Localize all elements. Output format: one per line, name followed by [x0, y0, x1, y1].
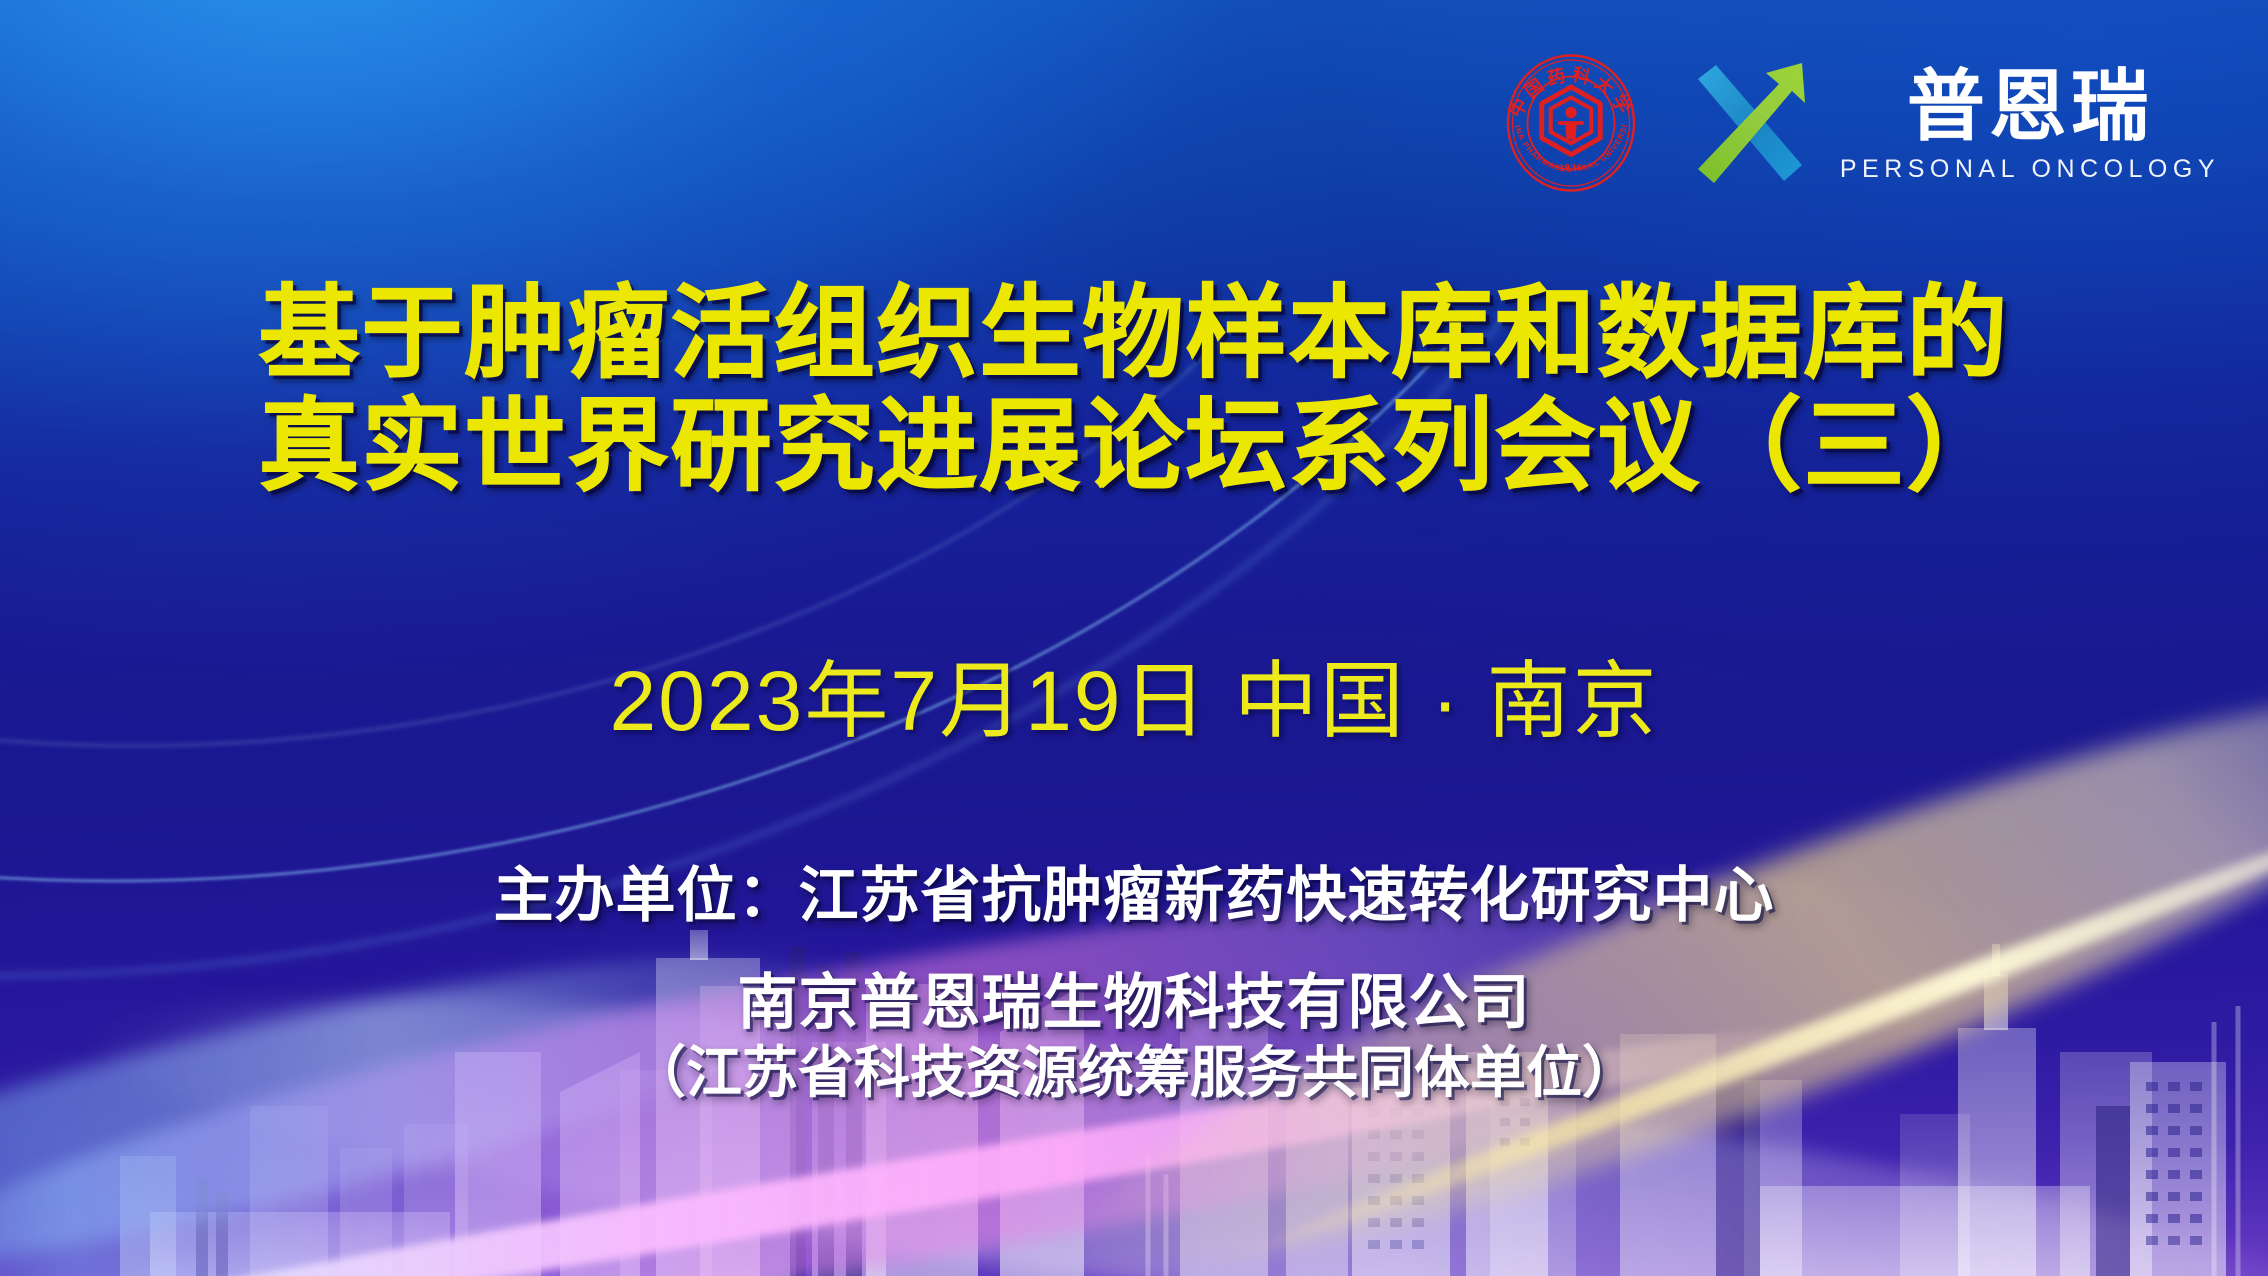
- penrui-wordmark: 普恩瑞 PERSONAL ONCOLOGY: [1840, 62, 2220, 183]
- penrui-chinese-name: 普恩瑞: [1907, 68, 2153, 144]
- logo-bar: 中国药科大学 CHINA PHARMACEUTICAL UNIVERSITY 1…: [1496, 48, 2220, 198]
- x-arrow-growth-mark-icon: [1684, 57, 1816, 189]
- china-pharmaceutical-university-seal-icon: 中国药科大学 CHINA PHARMACEUTICAL UNIVERSITY 1…: [1496, 48, 1646, 198]
- organizer-company-note: （江苏省科技资源统筹服务共同体单位）: [0, 1042, 2268, 1104]
- organizer-host-line: 主办单位：江苏省抗肿瘤新药快速转化研究中心: [0, 862, 2268, 929]
- conference-banner: 中国药科大学 CHINA PHARMACEUTICAL UNIVERSITY 1…: [0, 0, 2268, 1276]
- conference-date-location: 2023年7月19日 中国 · 南京: [0, 655, 2268, 747]
- svg-text:1936: 1936: [1559, 162, 1583, 173]
- organizer-block: 主办单位：江苏省抗肿瘤新药快速转化研究中心 南京普恩瑞生物科技有限公司 （江苏省…: [0, 862, 2268, 1104]
- conference-title: 基于肿瘤活组织生物样本库和数据库的 真实世界研究进展论坛系列会议（三）: [0, 278, 2268, 504]
- penrui-company-logo: 普恩瑞 PERSONAL ONCOLOGY: [1684, 57, 2220, 189]
- penrui-english-tagline: PERSONAL ONCOLOGY: [1840, 155, 2220, 184]
- conference-title-line-1: 基于肿瘤活组织生物样本库和数据库的: [0, 278, 2268, 391]
- organizer-company-line: 南京普恩瑞生物科技有限公司: [0, 969, 2268, 1036]
- conference-title-line-2: 真实世界研究进展论坛系列会议（三）: [0, 391, 2268, 504]
